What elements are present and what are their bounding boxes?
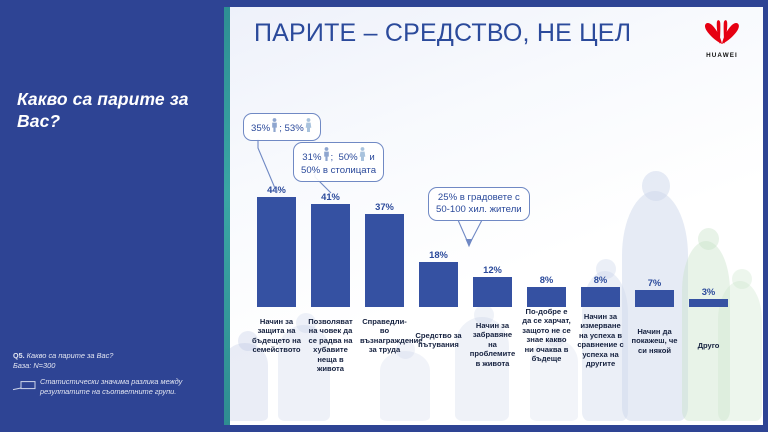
male-figure-icon xyxy=(271,118,278,136)
callout-2-line2: 50% в столицата xyxy=(301,165,376,177)
slide-content: ПАРИТЕ – СРЕДСТВО, НЕ ЦЕЛ HUAWEI 44% 41%… xyxy=(230,7,763,425)
female-figure-icon xyxy=(305,118,312,136)
callout-3-line1: 25% в градовете с xyxy=(436,192,522,204)
footnote-base: База: N=300 xyxy=(13,361,55,370)
callout-1-value-male: 35% xyxy=(251,123,270,134)
callout-2-line1: 31% ; 50% и xyxy=(301,147,376,165)
female-figure-icon xyxy=(359,147,366,165)
footnote-block: Q5. Какво са парите за Вас? База: N=300 xyxy=(13,351,218,372)
left-question-panel: Какво са парите за Вас? Q5. Какво са пар… xyxy=(0,0,225,432)
footnote-question: Какво са парите за Вас? xyxy=(27,351,114,360)
callout-city: 25% в градовете с 50-100 хил. жители xyxy=(428,187,530,221)
bar-chart: 44% 41% 37% 18% 12% 8% 8% 7% 3% Начин за… xyxy=(230,7,763,425)
callout-3-line2: 50-100 хил. жители xyxy=(436,204,522,216)
question-title: Какво са парите за Вас? xyxy=(17,88,217,132)
male-figure-icon xyxy=(323,147,330,165)
callout-gender-2: 31% ; 50% и 50% в столицата xyxy=(293,142,384,182)
callout-1-value-female: 53% xyxy=(285,123,304,134)
legend-row: Статистически значима разлика между резу… xyxy=(12,377,220,397)
callout-gender-1: 35% ; 53% xyxy=(243,113,321,141)
footnote-q-code: Q5. xyxy=(13,351,25,360)
legend-text: Статистически значима разлика между резу… xyxy=(40,377,220,397)
callout-box-icon xyxy=(12,378,36,396)
